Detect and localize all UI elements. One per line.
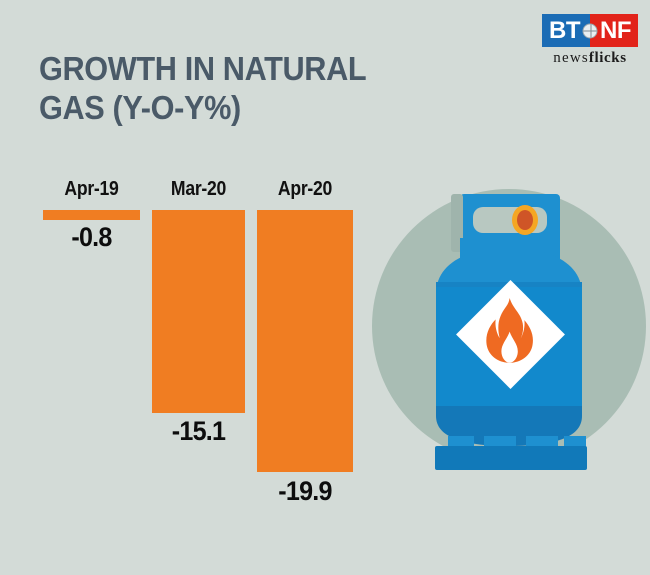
bar-value-label: -15.1 (155, 416, 241, 447)
cylinder-base-plate (435, 446, 587, 470)
logo-wordmark: newsflicks (542, 50, 638, 67)
bar-rect-mar-20 (152, 210, 245, 413)
bar-value-label: -0.8 (46, 222, 136, 253)
bar-rect-apr-20 (257, 210, 353, 472)
infographic-canvas: BT NF newsflicks GROWTH IN NATURAL GAS (… (0, 0, 650, 575)
bar-category-label: Apr-19 (49, 178, 134, 201)
gas-cylinder-illustration (372, 178, 646, 474)
bar-group-apr-20: Apr-20 -19.9 (257, 0, 353, 575)
bar-value-label: -19.9 (260, 476, 349, 507)
bar-group-apr-19: Apr-19 -0.8 (43, 0, 140, 575)
bar-category-label: Mar-20 (158, 178, 240, 201)
brand-logo: BT NF newsflicks (542, 14, 638, 67)
globe-icon (583, 23, 598, 38)
logo-mark: BT NF (542, 14, 638, 47)
valve-knob-center (517, 210, 533, 230)
bar-category-label: Apr-20 (263, 178, 347, 201)
logo-wordmark-bold: flicks (589, 50, 627, 66)
bar-rect-apr-19 (43, 210, 140, 220)
bar-chart: Apr-19 -0.8 Mar-20 -15.1 Apr-20 -19.9 (0, 0, 380, 575)
logo-wordmark-light: news (553, 50, 589, 66)
bar-group-mar-20: Mar-20 -15.1 (152, 0, 245, 575)
